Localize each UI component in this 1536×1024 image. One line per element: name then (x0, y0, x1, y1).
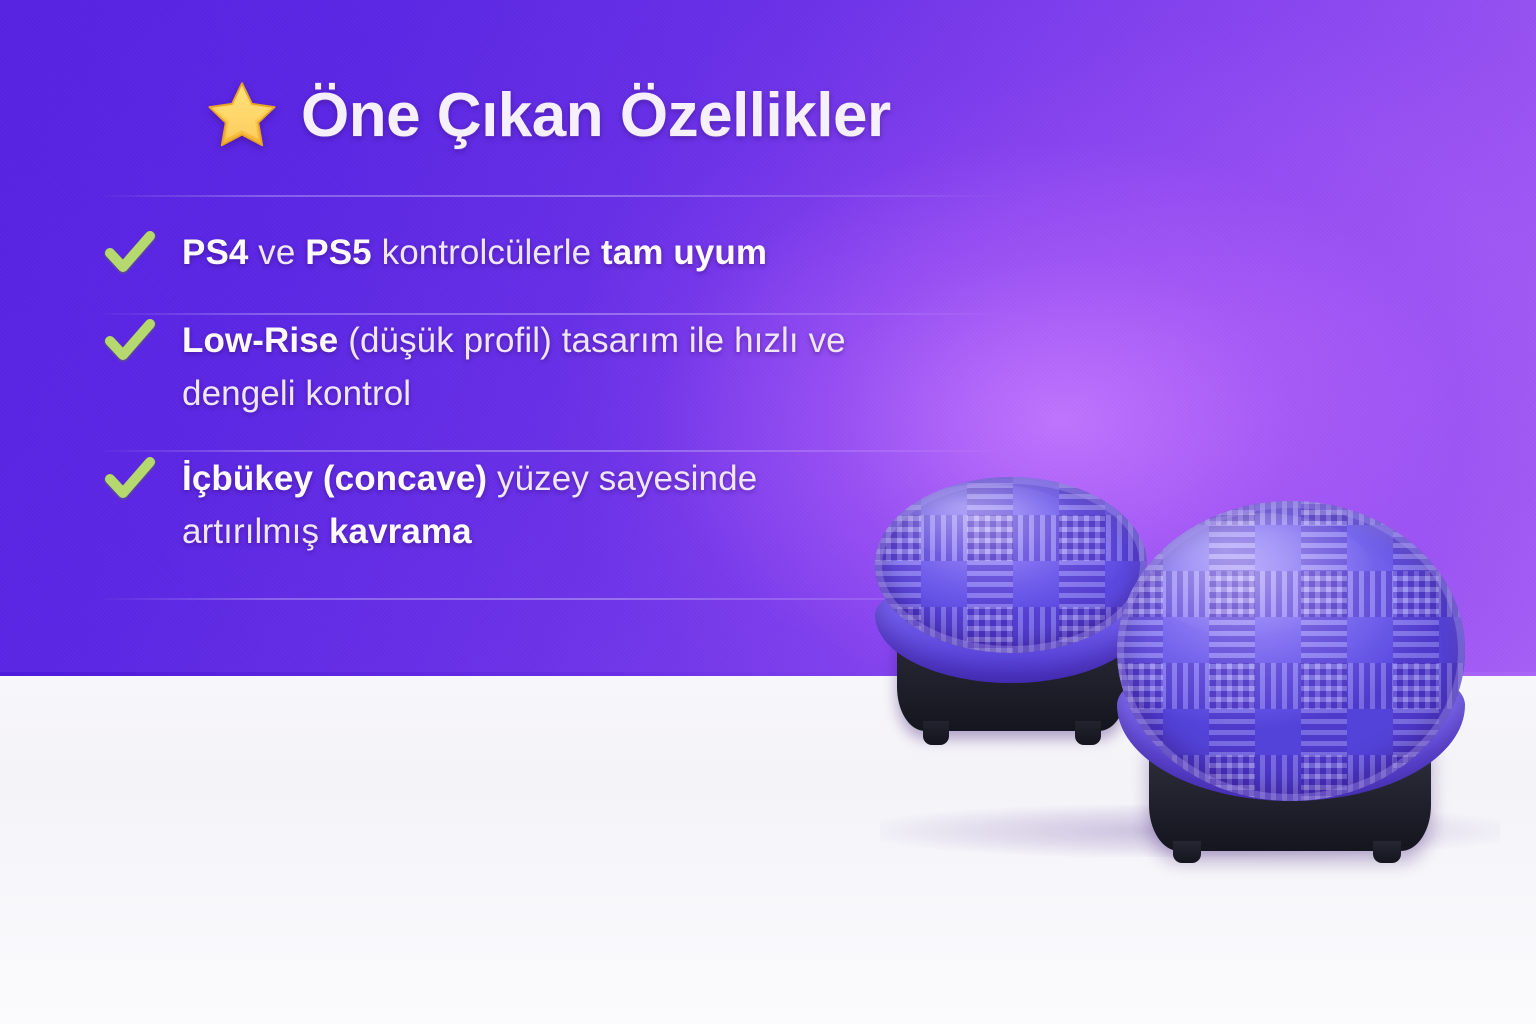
thumb-grip-front (1113, 501, 1469, 861)
thumb-grip-back (875, 477, 1147, 732)
thumb-grip-back-cap (875, 477, 1147, 653)
weave-texture-vertical (875, 477, 1147, 653)
feature-item-2: Low-Rise (düşük profil) tasarım ile hızl… (104, 314, 1004, 452)
feature-text-2: Low-Rise (düşük profil) tasarım ile hızl… (182, 314, 882, 420)
page-title: Öne Çıkan Özellikler (301, 80, 891, 151)
check-icon (104, 318, 156, 366)
page-title-row: Öne Çıkan Özellikler (205, 78, 891, 152)
thumb-grip-front-cap (1117, 501, 1465, 801)
weave-texture-vertical (1117, 501, 1465, 801)
check-icon (104, 456, 156, 504)
product-image-thumb-grips (855, 455, 1536, 885)
feature-text-3: İçbükey (concave) yüzey sayesinde artırı… (182, 452, 882, 558)
feature-text-1: PS4 ve PS5 kontrolcülerle tam uyum (182, 226, 767, 279)
star-icon (205, 78, 279, 152)
check-icon (104, 230, 156, 278)
divider-top (104, 195, 1006, 197)
banner-canvas: Öne Çıkan Özellikler PS4 ve PS5 kontrolc… (0, 0, 1536, 1024)
feature-item-1: PS4 ve PS5 kontrolcülerle tam uyum (104, 226, 1004, 314)
